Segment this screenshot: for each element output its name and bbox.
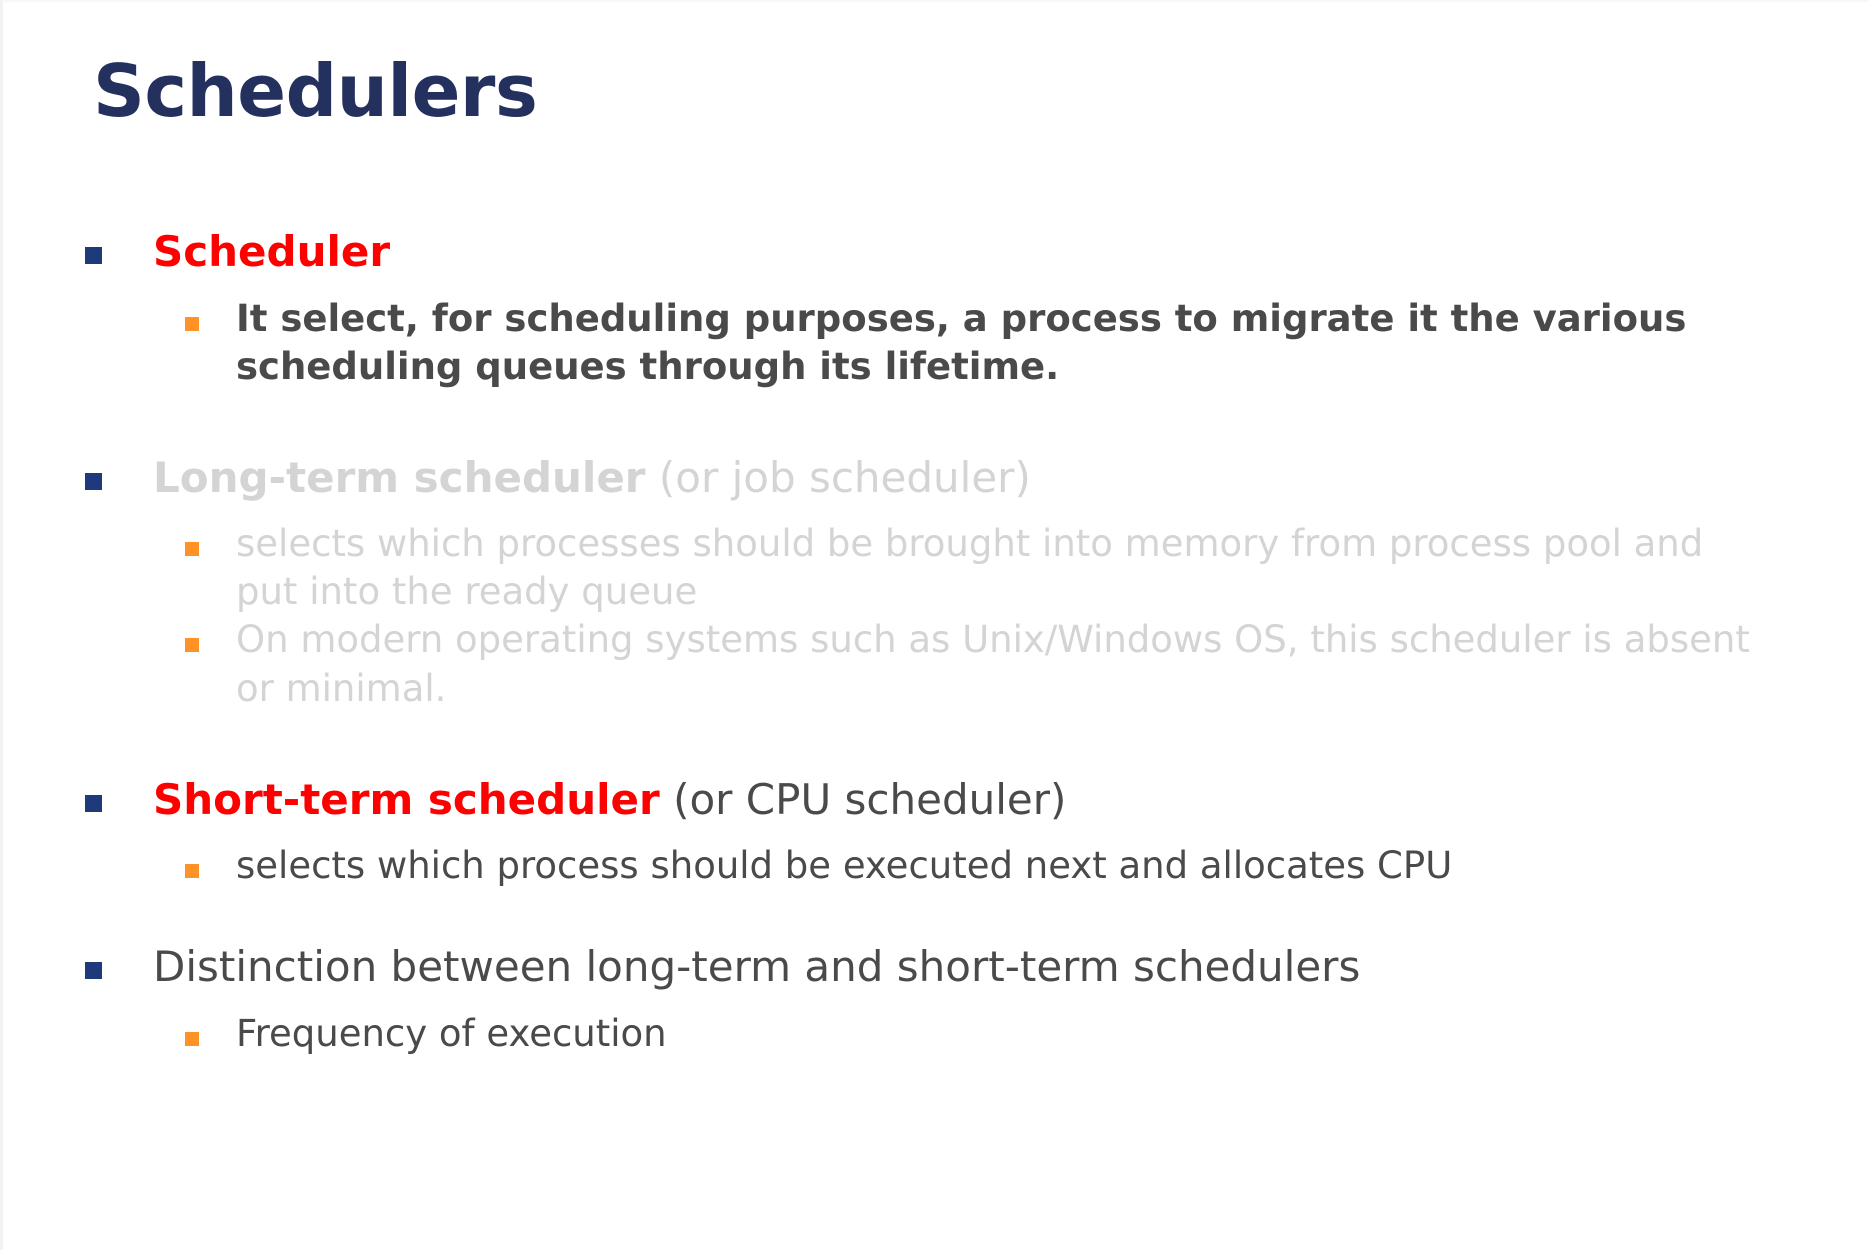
sub-bullet-text: On modern operating systems such as Unix… <box>236 616 1751 712</box>
square-bullet-icon <box>85 962 102 979</box>
spacer <box>3 502 1868 520</box>
square-bullet-icon <box>85 247 102 264</box>
bullet-heading-long-term-scheduler: Long-term scheduler (or job scheduler) <box>153 453 1868 503</box>
bullet-heading-short-term-scheduler: Short-term scheduler (or CPU scheduler) <box>153 775 1868 825</box>
slide-canvas: Schedulers Scheduler It select, for sche… <box>0 0 1868 1250</box>
spacer <box>3 391 1868 453</box>
sub-bullet-text: selects which process should be executed… <box>236 842 1751 890</box>
bullet-item-scheduler: Scheduler <box>3 227 1868 277</box>
bullet-item-distinction: Distinction between long-term and short-… <box>3 942 1868 992</box>
page-title: Schedulers <box>93 54 537 130</box>
bullet-heading-distinction: Distinction between long-term and short-… <box>153 942 1868 992</box>
bullet-heading-text: Distinction between long-term and short-… <box>153 942 1360 991</box>
bullet-heading-text: Scheduler <box>153 227 390 276</box>
bullet-heading-scheduler: Scheduler <box>153 227 1868 277</box>
sub-bullet-item-short-term-1: selects which process should be executed… <box>3 842 1868 890</box>
bullet-heading-text: Short-term scheduler <box>153 775 660 824</box>
sub-bullet-item-scheduler-desc: It select, for scheduling purposes, a pr… <box>3 295 1868 391</box>
sub-bullet-text: It select, for scheduling purposes, a pr… <box>236 295 1751 391</box>
square-bullet-icon <box>85 795 102 812</box>
spacer <box>3 992 1868 1010</box>
square-bullet-icon <box>185 1032 199 1046</box>
sub-bullet-item-long-term-1: selects which processes should be brough… <box>3 520 1868 616</box>
sub-bullet-text: Frequency of execution <box>236 1010 1751 1058</box>
sub-bullet-item-frequency: Frequency of execution <box>3 1010 1868 1058</box>
square-bullet-icon <box>185 317 199 331</box>
bullet-heading-text: Long-term scheduler <box>153 453 646 502</box>
bullet-item-short-term-scheduler: Short-term scheduler (or CPU scheduler) <box>3 775 1868 825</box>
spacer <box>3 890 1868 942</box>
square-bullet-icon <box>85 473 102 490</box>
bullet-heading-paren: (or job scheduler) <box>659 453 1031 502</box>
square-bullet-icon <box>185 864 199 878</box>
spacer <box>3 713 1868 775</box>
square-bullet-icon <box>185 542 199 556</box>
sub-bullet-text: selects which processes should be brough… <box>236 520 1751 616</box>
bullet-item-long-term-scheduler: Long-term scheduler (or job scheduler) <box>3 453 1868 503</box>
bullet-heading-paren: (or CPU scheduler) <box>673 775 1066 824</box>
square-bullet-icon <box>185 638 199 652</box>
spacer <box>3 824 1868 842</box>
slide-body: Scheduler It select, for scheduling purp… <box>3 227 1868 1058</box>
sub-bullet-item-long-term-2: On modern operating systems such as Unix… <box>3 616 1868 712</box>
spacer <box>3 277 1868 295</box>
